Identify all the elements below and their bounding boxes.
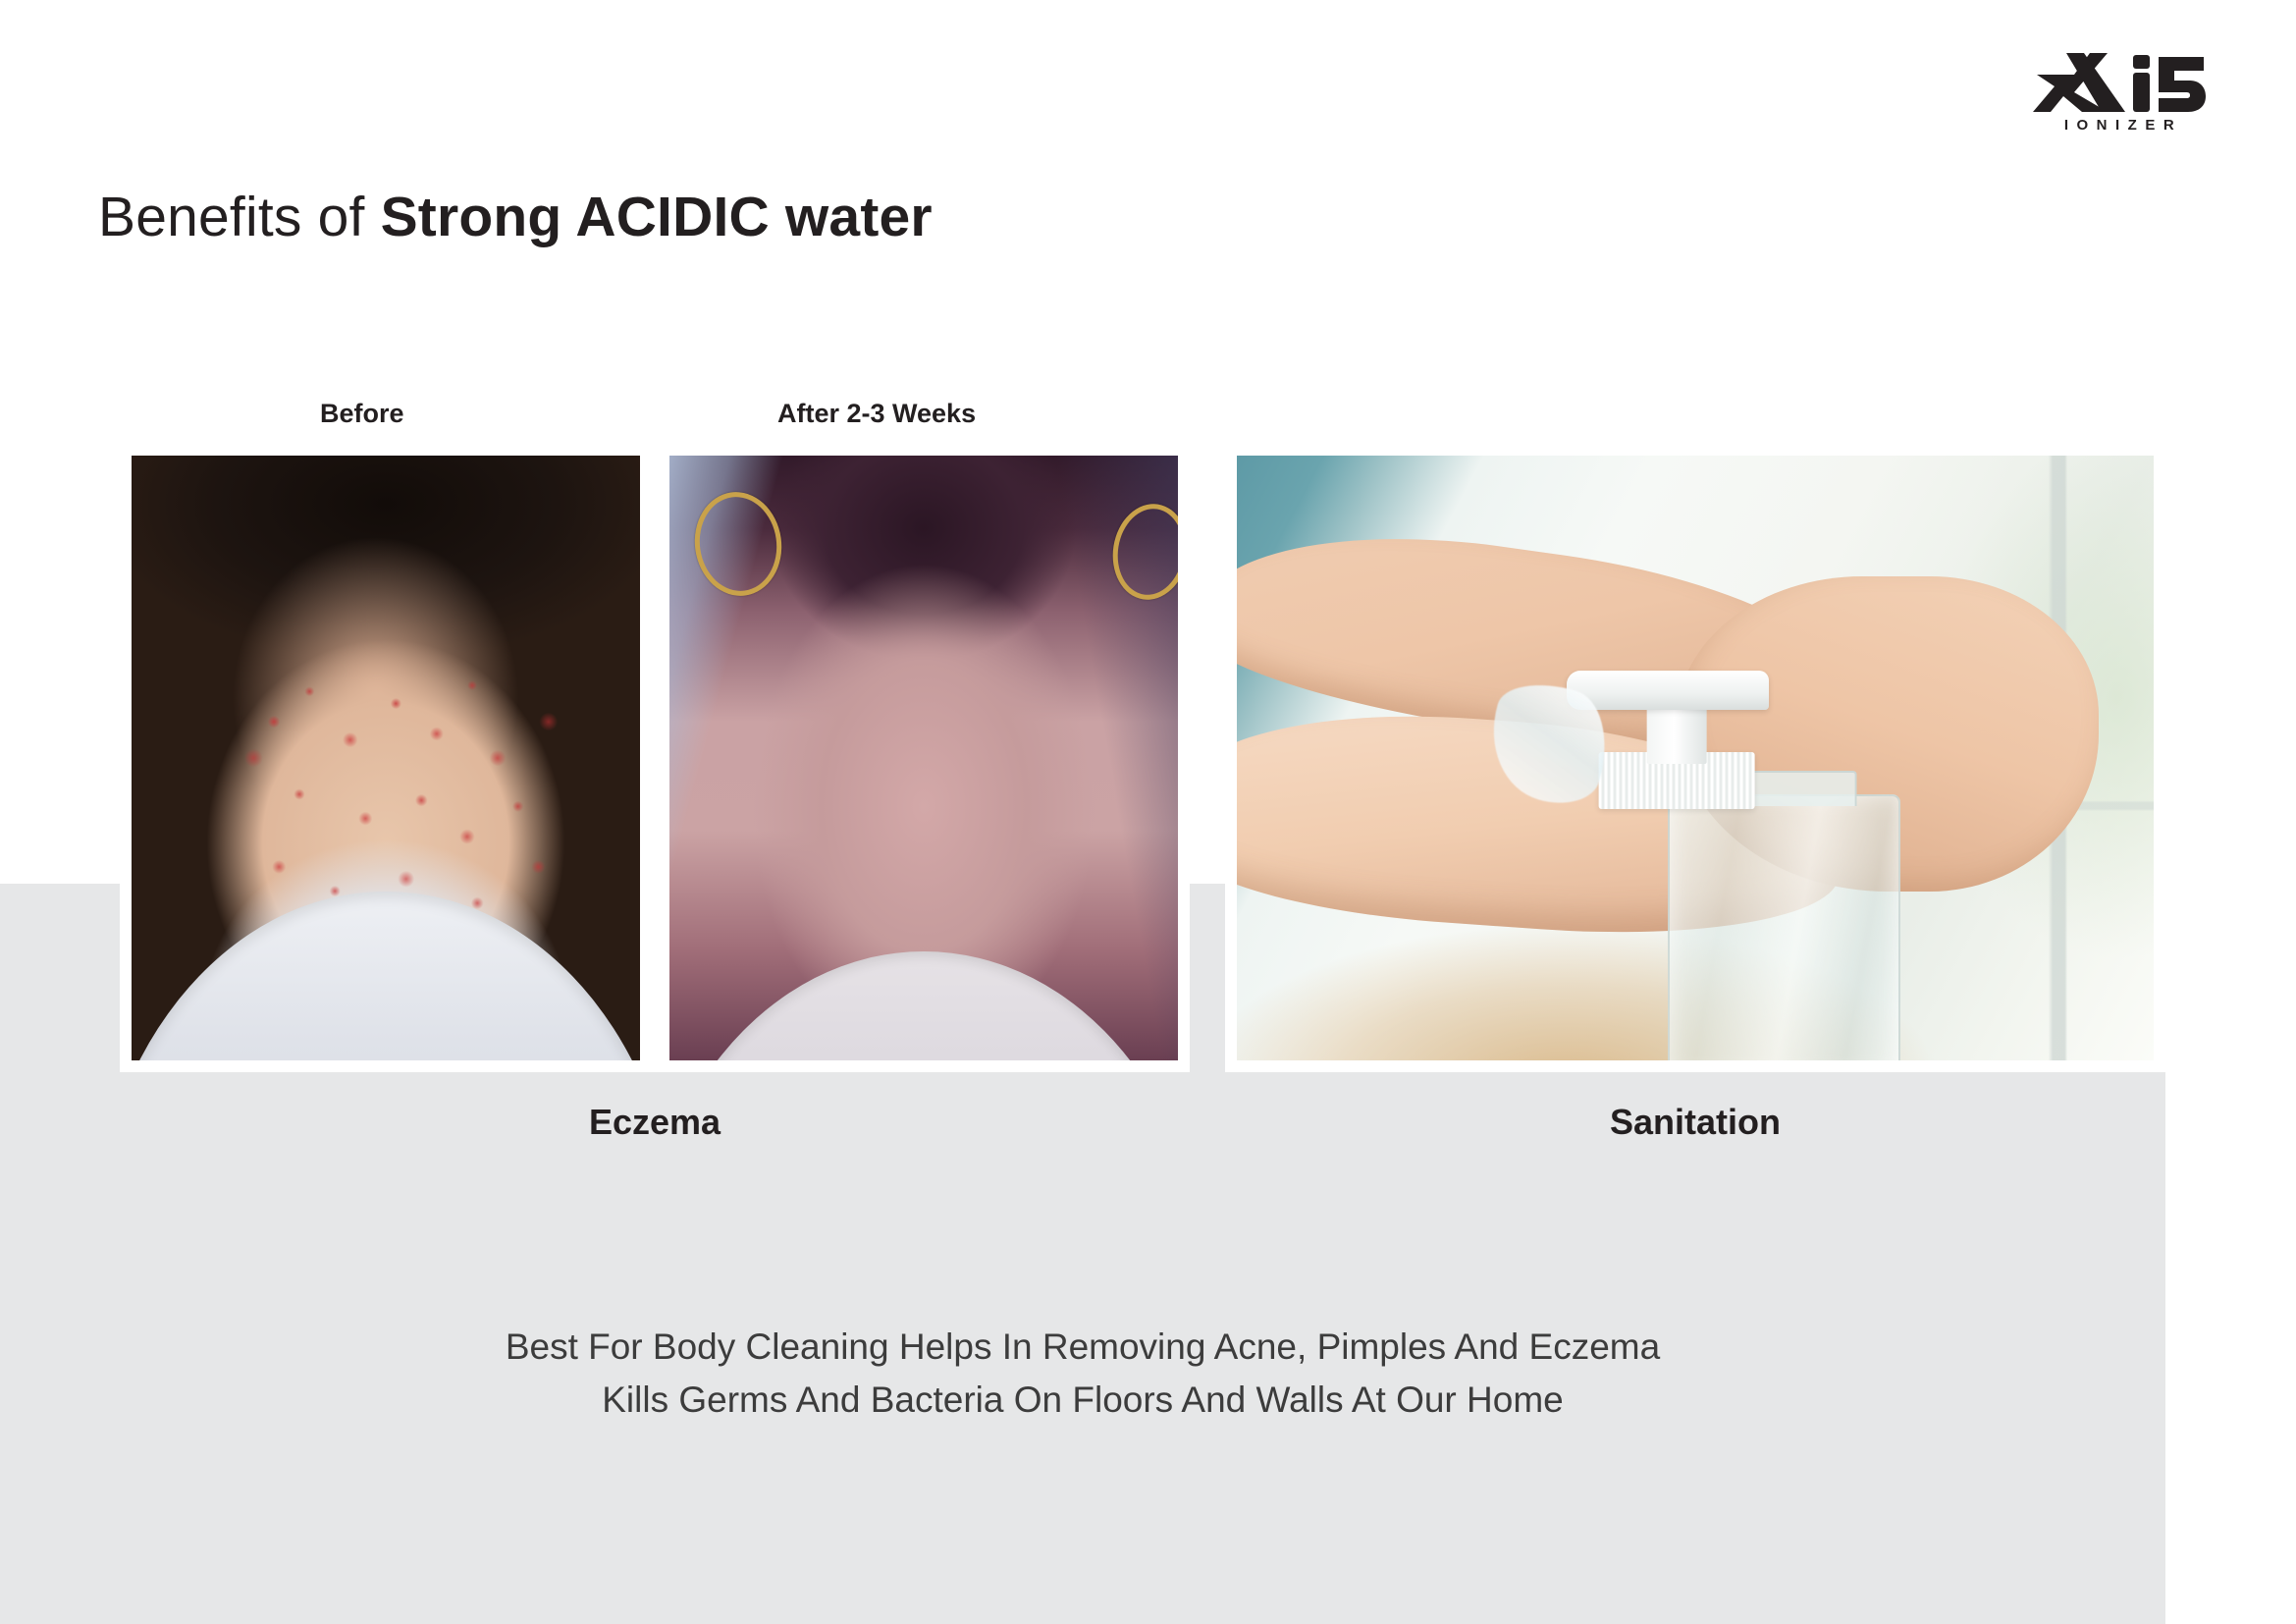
page-title: Benefits of Strong ACIDIC water: [98, 185, 933, 249]
photo-eczema-after: [669, 456, 1178, 1060]
logo-subtitle: IONIZER: [2021, 118, 2217, 133]
footer-description: Best For Body Cleaning Helps In Removing…: [0, 1321, 2165, 1427]
footer-line-2: Kills Germs And Bacteria On Floors And W…: [0, 1374, 2165, 1427]
sanitation-photo-frame: [1225, 444, 2165, 1072]
label-after: After 2-3 Weeks: [777, 399, 976, 429]
photo-eczema-before: [132, 456, 640, 1060]
photo-sanitation: [1237, 456, 2154, 1060]
pump-stem: [1647, 704, 1707, 765]
caption-eczema: Eczema: [120, 1102, 1190, 1143]
pump-head: [1567, 671, 1768, 710]
page-title-bold: Strong ACIDIC water: [381, 186, 933, 248]
caption-sanitation: Sanitation: [1225, 1102, 2165, 1143]
page-title-light: Benefits of: [98, 186, 381, 248]
eczema-photo-frame: [120, 444, 1190, 1072]
footer-line-1: Best For Body Cleaning Helps In Removing…: [0, 1321, 2165, 1374]
label-before: Before: [320, 399, 404, 429]
brand-logo: IONIZER: [2021, 51, 2217, 149]
xi5-logo-icon: [2031, 51, 2208, 116]
hoop-earring-icon: [1106, 499, 1178, 606]
pump-bottle: [1668, 794, 1901, 1060]
hoop-earring-icon: [688, 486, 788, 601]
